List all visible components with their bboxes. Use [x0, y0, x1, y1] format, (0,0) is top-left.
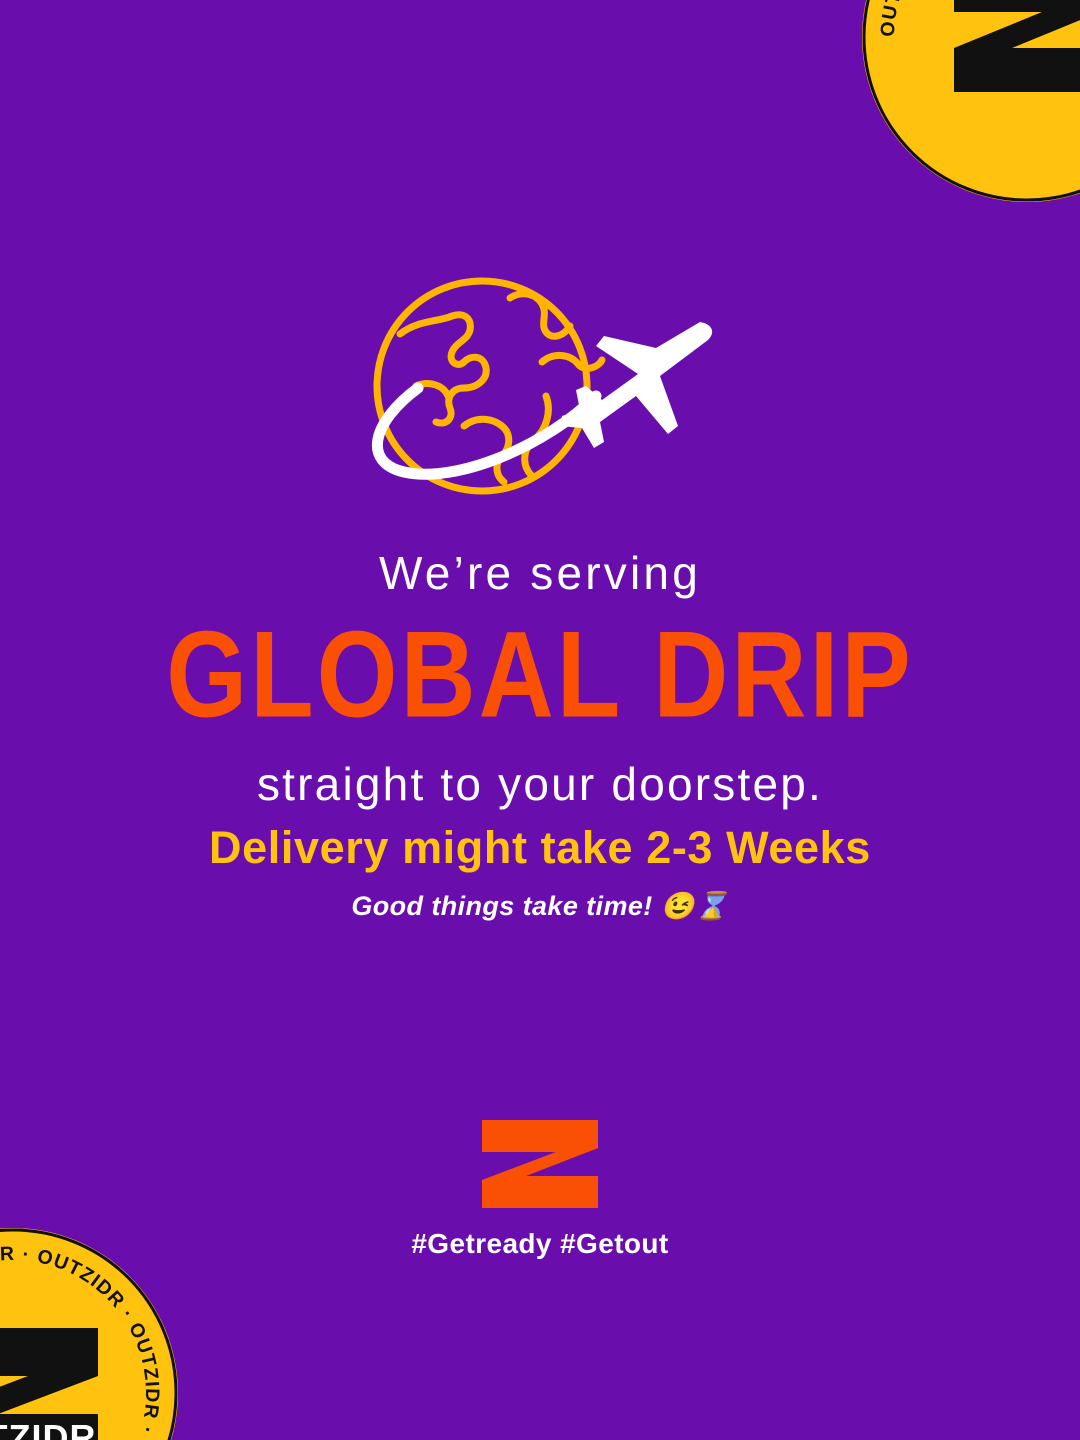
delivery-estimate: Delivery might take 2-3 Weeks	[0, 822, 1080, 874]
headline-line-1: We’re serving	[0, 548, 1080, 599]
z-logo-icon	[478, 1118, 602, 1210]
headline-line-3: straight to your doorstep.	[0, 759, 1080, 810]
delivery-note: Good things take time! 😉⌛	[0, 890, 1080, 922]
globe-airplane-illustration	[360, 276, 720, 508]
badge-center-wordmark: OUTZIDR	[0, 1417, 96, 1440]
headline-line-2: GLOBAL DRIP	[0, 609, 1080, 742]
footer-group: #Getready #Getout	[0, 1118, 1080, 1260]
poster-canvas: OUTZIDR · OUTZIDR · OUTZIDR · OUTZIDR · …	[0, 0, 1080, 1440]
delivery-info-group: Delivery might take 2-3 Weeks Good thing…	[0, 822, 1080, 922]
headline-group: We’re serving GLOBAL DRIP straight to yo…	[0, 548, 1080, 810]
airplane-icon	[560, 322, 712, 448]
badge-top-right: OUTZIDR · OUTZIDR · OUTZIDR · OUTZIDR · …	[862, 0, 1080, 202]
footer-tagline: #Getready #Getout	[0, 1228, 1080, 1260]
